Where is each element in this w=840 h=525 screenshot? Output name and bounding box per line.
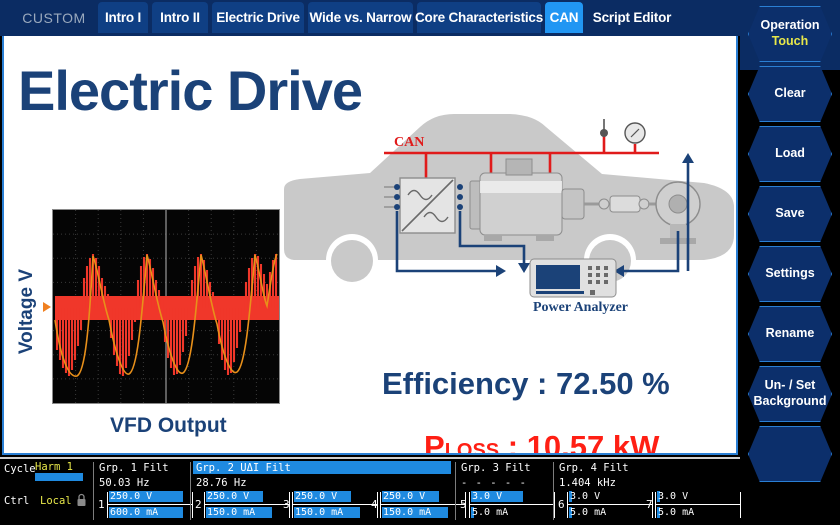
softkey-operation[interactable]: OperationTouch bbox=[748, 6, 832, 62]
status-channel-gauge: 250.0 V150.0 mA bbox=[292, 489, 378, 521]
softkey-label: Un- / Set bbox=[765, 378, 816, 394]
car-schematic-svg: CAN bbox=[284, 111, 734, 316]
gauge-left-tick bbox=[107, 492, 108, 518]
gauge-current-label: 150.0 mA bbox=[383, 507, 431, 518]
softkey-label: Clear bbox=[774, 86, 805, 102]
gauge-voltage-label: 3.0 V bbox=[472, 491, 502, 502]
status-group-divider bbox=[455, 462, 456, 520]
gauge-axis bbox=[469, 504, 555, 505]
gauge-left-tick bbox=[567, 492, 568, 518]
softkey-label: Load bbox=[775, 146, 805, 162]
status-group-title[interactable]: Grp. 3 Filt bbox=[461, 462, 531, 474]
power-analyzer-device bbox=[530, 259, 616, 297]
status-group-title[interactable]: Grp. 1 Filt bbox=[99, 462, 169, 474]
app-window: CUSTOMIntro IIntro IIElectric DriveWide … bbox=[0, 0, 840, 525]
tab-bar-inner: CUSTOMIntro IIntro IIElectric DriveWide … bbox=[0, 0, 740, 33]
gauge-right-tick bbox=[554, 492, 555, 518]
gauge-current-label: 600.0 mA bbox=[110, 507, 158, 518]
ploss-subscript: LOSS bbox=[445, 440, 499, 455]
scope-caption: VFD Output bbox=[110, 414, 227, 438]
car-schematic: CAN bbox=[284, 111, 734, 316]
status-channel-gauge: 250.0 V150.0 mA bbox=[204, 489, 290, 521]
ploss-readout: PLOSS : 10.57 kW bbox=[424, 429, 659, 455]
status-channel-gauge: 3.0 V5.0 mA bbox=[567, 489, 653, 521]
status-group-frequency: 50.03 Hz bbox=[99, 477, 150, 489]
status-group-divider bbox=[93, 462, 94, 520]
status-bar-top-border bbox=[0, 457, 740, 459]
ploss-prefix: P bbox=[424, 429, 445, 455]
scope-canvas bbox=[53, 210, 279, 403]
status-channel-number: 5 bbox=[460, 498, 467, 511]
gauge-right-tick bbox=[740, 492, 741, 518]
softkey-empty[interactable] bbox=[748, 426, 832, 482]
gauge-current-label: 150.0 mA bbox=[207, 507, 255, 518]
gauge-current-label: 5.0 mA bbox=[570, 507, 606, 518]
tab-bar: CUSTOMIntro IIntro IIElectric DriveWide … bbox=[0, 0, 740, 33]
tab-intro-i[interactable]: Intro I bbox=[98, 2, 148, 33]
gauge-voltage-label: 250.0 V bbox=[383, 491, 425, 502]
gauge-voltage-label: 250.0 V bbox=[110, 491, 152, 502]
right-soft-key-panel: OperationTouchClearLoadSaveSettingsRenam… bbox=[740, 0, 840, 525]
softkey-load[interactable]: Load bbox=[748, 126, 832, 182]
scope-widget: Voltage V bbox=[52, 209, 292, 454]
ctrl-label: Ctrl bbox=[4, 495, 29, 507]
gauge-axis bbox=[107, 504, 193, 505]
gauge-current-label: 5.0 mA bbox=[472, 507, 508, 518]
inverter-block bbox=[400, 178, 455, 233]
tab-can[interactable]: CAN bbox=[545, 2, 583, 33]
status-channel-gauge: 3.0 V5.0 mA bbox=[655, 489, 741, 521]
gauge-left-tick bbox=[380, 492, 381, 518]
tab-custom[interactable]: CUSTOM bbox=[18, 2, 90, 33]
power-analyzer-label: Power Analyzer bbox=[533, 300, 628, 315]
softkey-clear[interactable]: Clear bbox=[748, 66, 832, 122]
gauge-axis bbox=[380, 504, 466, 505]
ploss-value: : 10.57 kW bbox=[499, 429, 659, 455]
tab-wide-vs-narrow[interactable]: Wide vs. Narrow bbox=[308, 2, 413, 33]
gauge-axis bbox=[567, 504, 653, 505]
status-channel-number: 1 bbox=[98, 498, 105, 511]
softkey-save[interactable]: Save bbox=[748, 186, 832, 242]
cycle-bar bbox=[35, 473, 83, 481]
scope-display[interactable] bbox=[52, 209, 280, 404]
gauge-axis bbox=[292, 504, 378, 505]
status-group-frequency: - - - - - bbox=[461, 477, 527, 489]
efficiency-readout: Efficiency : 72.50 % bbox=[382, 366, 670, 402]
gauge-voltage-label: 250.0 V bbox=[295, 491, 337, 502]
status-group-title[interactable]: Grp. 2 UΔI Filt bbox=[196, 462, 291, 474]
gauge-voltage-label: 250.0 V bbox=[207, 491, 249, 502]
status-group-frequency: 1.404 kHz bbox=[559, 477, 616, 489]
softkey-label: Operation bbox=[760, 18, 819, 34]
can-bus-label: CAN bbox=[394, 135, 424, 150]
gauge-left-tick bbox=[469, 492, 470, 518]
cycle-value[interactable]: Harm 1 bbox=[35, 461, 73, 473]
tab-electric-drive[interactable]: Electric Drive bbox=[212, 2, 304, 33]
gauge-left-tick bbox=[204, 492, 205, 518]
status-group-divider bbox=[553, 462, 554, 520]
status-channel-gauge: 250.0 V150.0 mA bbox=[380, 489, 466, 521]
status-channel-number: 3 bbox=[283, 498, 290, 511]
ctrl-value[interactable]: Local bbox=[40, 495, 72, 507]
status-group-frequency: 28.76 Hz bbox=[196, 477, 247, 489]
softkey-label: Save bbox=[775, 206, 804, 222]
status-group-divider bbox=[190, 462, 191, 520]
softkey-label: Rename bbox=[766, 326, 815, 342]
status-bar: Cycle Harm 1 Ctrl Local Grp. 1 Filt50.03… bbox=[0, 457, 740, 525]
gauge-axis bbox=[655, 504, 741, 505]
scope-y-axis-label: Voltage V bbox=[16, 269, 38, 354]
tab-script-editor[interactable]: Script Editor bbox=[587, 2, 677, 33]
trigger-arrow-icon bbox=[43, 302, 51, 312]
lock-icon[interactable] bbox=[76, 493, 87, 510]
softkey-settings[interactable]: Settings bbox=[748, 246, 832, 302]
gauge-left-tick bbox=[655, 492, 656, 518]
status-channel-gauge: 250.0 V600.0 mA bbox=[107, 489, 193, 521]
motor-terminals bbox=[457, 184, 463, 210]
gauge-axis bbox=[204, 504, 290, 505]
sensor-icons bbox=[600, 119, 645, 143]
gauge-left-tick bbox=[292, 492, 293, 518]
cycle-label: Cycle bbox=[4, 463, 36, 475]
softkey-un-set[interactable]: Un- / SetBackground bbox=[748, 366, 832, 422]
softkey-sublabel: Touch bbox=[772, 34, 809, 50]
status-channel-number: 7 bbox=[646, 498, 653, 511]
gauge-voltage-label: 3.0 V bbox=[570, 491, 600, 502]
tab-core-characteristics[interactable]: Core Characteristics bbox=[417, 2, 541, 33]
status-channel-gauge: 3.0 V5.0 mA bbox=[469, 489, 555, 521]
status-channel-number: 6 bbox=[558, 498, 565, 511]
gauge-current-label: 5.0 mA bbox=[658, 507, 694, 518]
status-channel-number: 4 bbox=[371, 498, 378, 511]
tab-intro-ii[interactable]: Intro II bbox=[152, 2, 208, 33]
softkey-rename[interactable]: Rename bbox=[748, 306, 832, 362]
softkey-label: Settings bbox=[765, 266, 814, 282]
status-group-title[interactable]: Grp. 4 Filt bbox=[559, 462, 629, 474]
status-channel-number: 2 bbox=[195, 498, 202, 511]
softkey-sublabel: Background bbox=[754, 394, 827, 410]
gauge-voltage-label: 3.0 V bbox=[658, 491, 688, 502]
main-content-panel: Electric Drive CAN bbox=[2, 36, 738, 455]
gauge-current-label: 150.0 mA bbox=[295, 507, 343, 518]
